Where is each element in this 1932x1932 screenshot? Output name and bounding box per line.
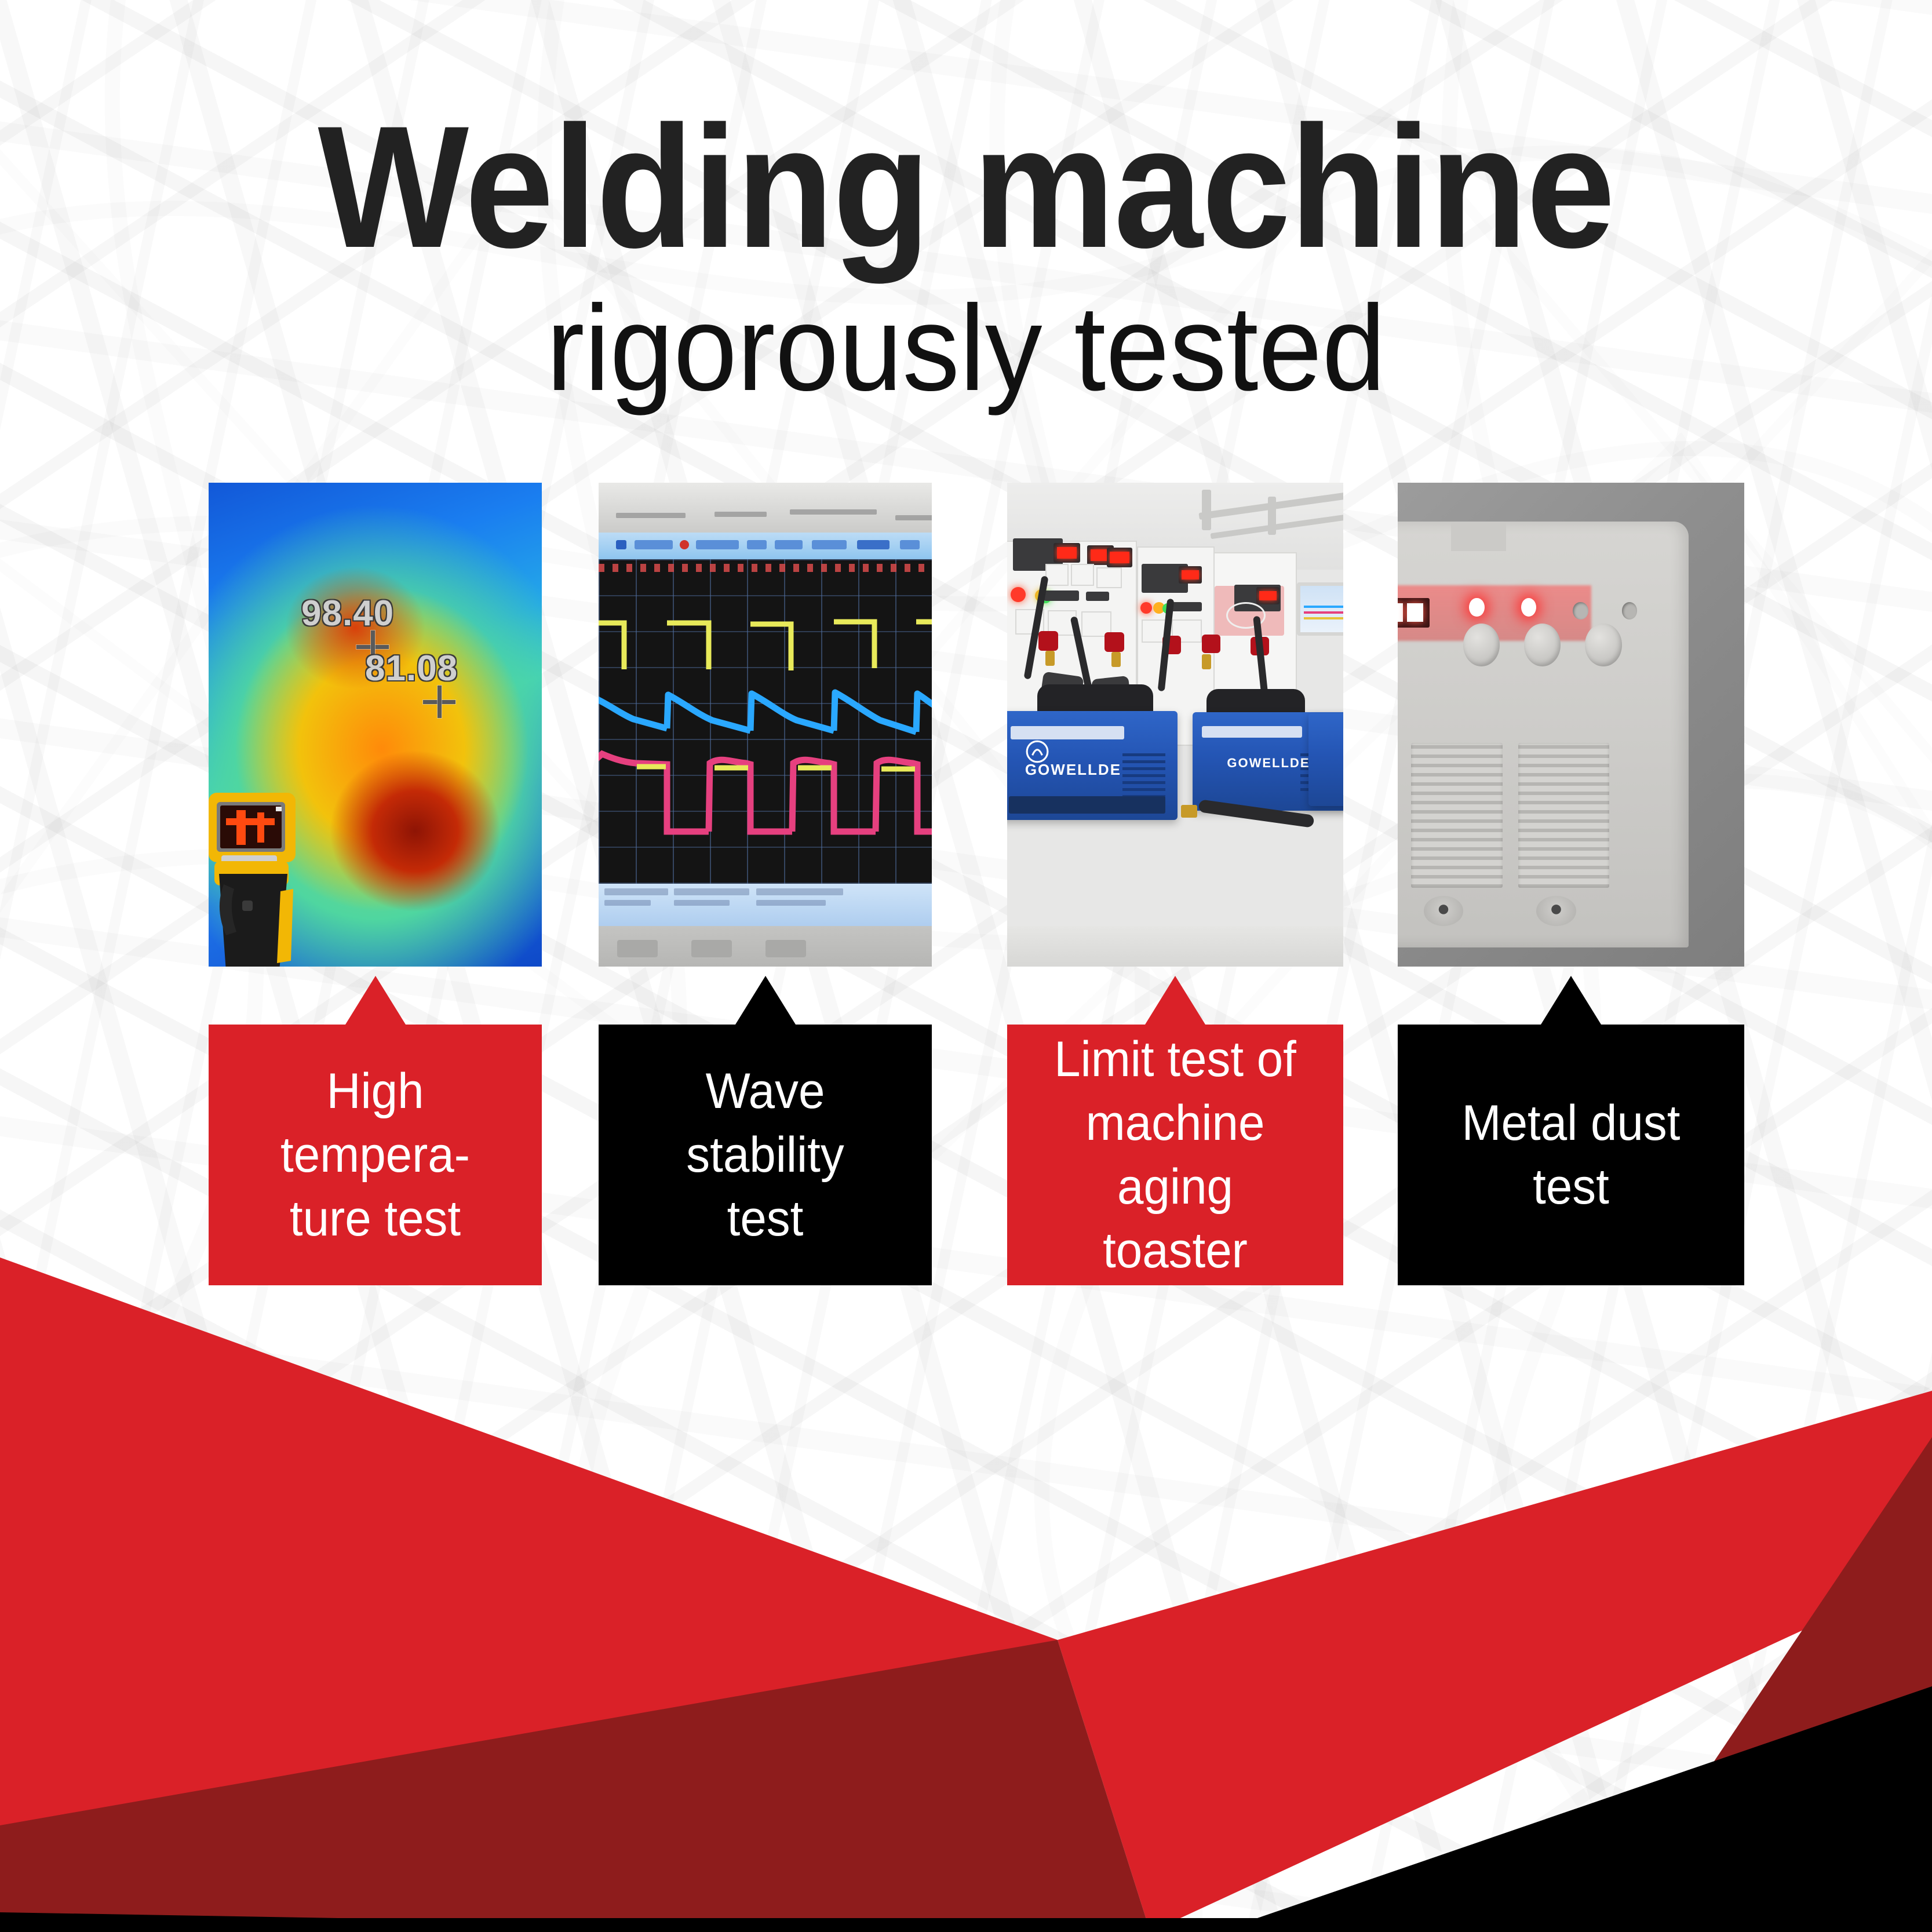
control-knob-3[interactable] [1585,624,1621,666]
scope-menubar [599,533,932,559]
wheel-left [1424,896,1463,925]
vent-grille-right [1518,743,1610,888]
thermal-reading-2: 81.08 [365,648,458,689]
scope-statusbar [599,884,932,927]
brand-logo-icon [1025,739,1049,764]
thermal-reading-1: 98.40 [301,593,394,634]
caption-label: Limit test of machine aging toaster [1029,1027,1321,1282]
black-bottom-strip [0,1918,1932,1932]
photo-row: 98.40 81.08 [0,483,1932,967]
header-block: Welding machine rigorously tested [0,104,1932,413]
welder-brand-label: GOWELLDE [1025,761,1121,779]
scope-waveform-area [599,559,932,884]
vent-grille-left [1411,743,1503,888]
welder-brand-label-2: GOWELLDE [1227,756,1310,771]
machine-body [1398,522,1689,947]
pointer-arrow-icon [735,976,796,1025]
page-subtitle: rigorously tested [58,285,1874,413]
pointer-arrow-icon [1541,976,1601,1025]
dusty-machine-scene [1398,483,1744,967]
aging-test-lab-photo: GOWELLDE GOWELLDE [1007,483,1343,967]
socket-1 [1573,602,1588,619]
poster-canvas: Welding machine rigorously tested 98.40 … [0,0,1932,1932]
oscilloscope-screen [599,483,932,967]
caption-label: Metal dust test [1420,1091,1723,1219]
pointer-arrow-icon [345,976,406,1025]
lab-scene: GOWELLDE GOWELLDE [1007,483,1343,967]
angular-red-black-chevron-graphic [0,1246,1932,1932]
thermal-imaging-photo: 98.40 81.08 [209,483,542,967]
wheel-right [1536,896,1576,925]
oscilloscope-waveform-photo [599,483,932,967]
scope-traces [599,559,932,884]
caption-label: Wave stability test [620,1059,910,1251]
control-knob-1[interactable] [1463,624,1500,666]
led-display [1398,598,1430,628]
dust-covered-machine-photo [1398,483,1744,967]
scope-titlebar [599,483,932,533]
socket-2 [1622,602,1637,619]
scope-bezel [599,926,932,967]
control-knob-2[interactable] [1524,624,1561,666]
crosshair-icon [423,686,455,718]
page-title: Welding machine [77,104,1854,269]
indicator-lamp-1 [1469,598,1484,617]
pointer-arrow-icon [1145,976,1205,1025]
thermal-camera-icon [209,787,305,967]
caption-label: High tempera- ture test [230,1059,520,1251]
